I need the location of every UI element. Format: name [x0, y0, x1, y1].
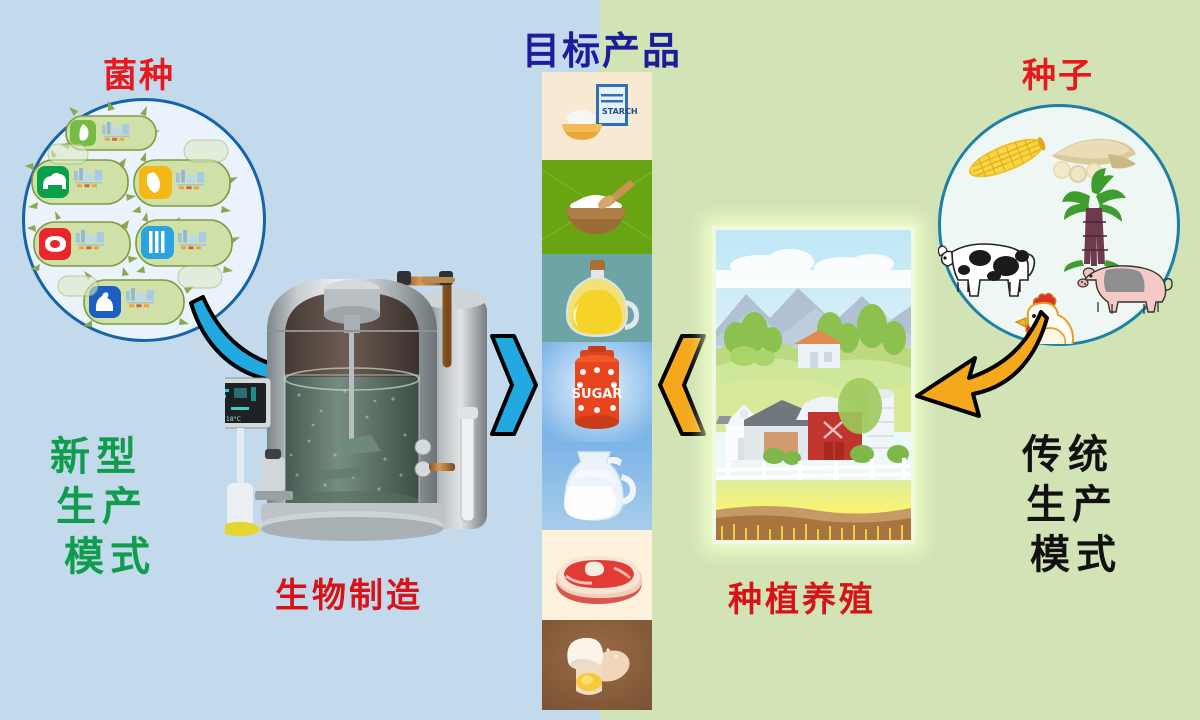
- new-mode-line2: 生产: [50, 482, 156, 532]
- trad-mode-line1: 传统: [1022, 430, 1122, 480]
- strain-title: 菌种: [103, 48, 175, 97]
- orange-curved-arrow: [895, 300, 1055, 430]
- new-mode-line1: 新型: [50, 432, 156, 482]
- strain-cell-meat: [27, 211, 138, 271]
- reactor-display-value: 18°C: [226, 416, 241, 423]
- starch-caption: STARCH: [602, 107, 638, 116]
- farm-landscape: [712, 226, 915, 544]
- trad-mode-line2: 生产: [1022, 480, 1122, 530]
- seed-title: 种子: [1022, 48, 1094, 97]
- product-tile-meat: [542, 530, 652, 620]
- corn-cob-icon: [964, 131, 1049, 185]
- product-tile-egg: [542, 620, 652, 710]
- traditional-production-mode-label: 传统 生产 模式: [1022, 430, 1122, 580]
- blue-chevron-right-icon: [488, 330, 540, 440]
- farming-label: 种植养殖: [728, 572, 876, 621]
- sugarcane-icon: [1062, 168, 1126, 274]
- new-mode-line3: 模式: [50, 532, 156, 582]
- bioreactor: 18°C: [225, 235, 515, 560]
- product-tile-sugar: SUGAR: [542, 342, 652, 442]
- orange-chevron-left-icon: [656, 330, 708, 440]
- target-product-strip: STARCH: [542, 72, 652, 710]
- pig-icon: [1078, 266, 1172, 314]
- strain-cell-chicken: [83, 267, 194, 327]
- product-tile-oil: [542, 254, 652, 342]
- product-title: 目标产品: [522, 20, 682, 75]
- sugar-caption: SUGAR: [572, 387, 623, 402]
- product-tile-rice: [542, 160, 652, 254]
- dairy-cow-icon: [938, 244, 1034, 296]
- product-tile-milk: [542, 442, 652, 530]
- trad-mode-line3: 模式: [1022, 530, 1122, 580]
- new-production-mode-label: 新型 生产 模式: [50, 432, 156, 582]
- strain-cell-corn: [60, 101, 160, 150]
- diagram-canvas: 18°C STARCH: [0, 0, 1200, 720]
- product-tile-starch: STARCH: [542, 72, 652, 160]
- bio-manufacturing-label: 生物制造: [275, 568, 423, 617]
